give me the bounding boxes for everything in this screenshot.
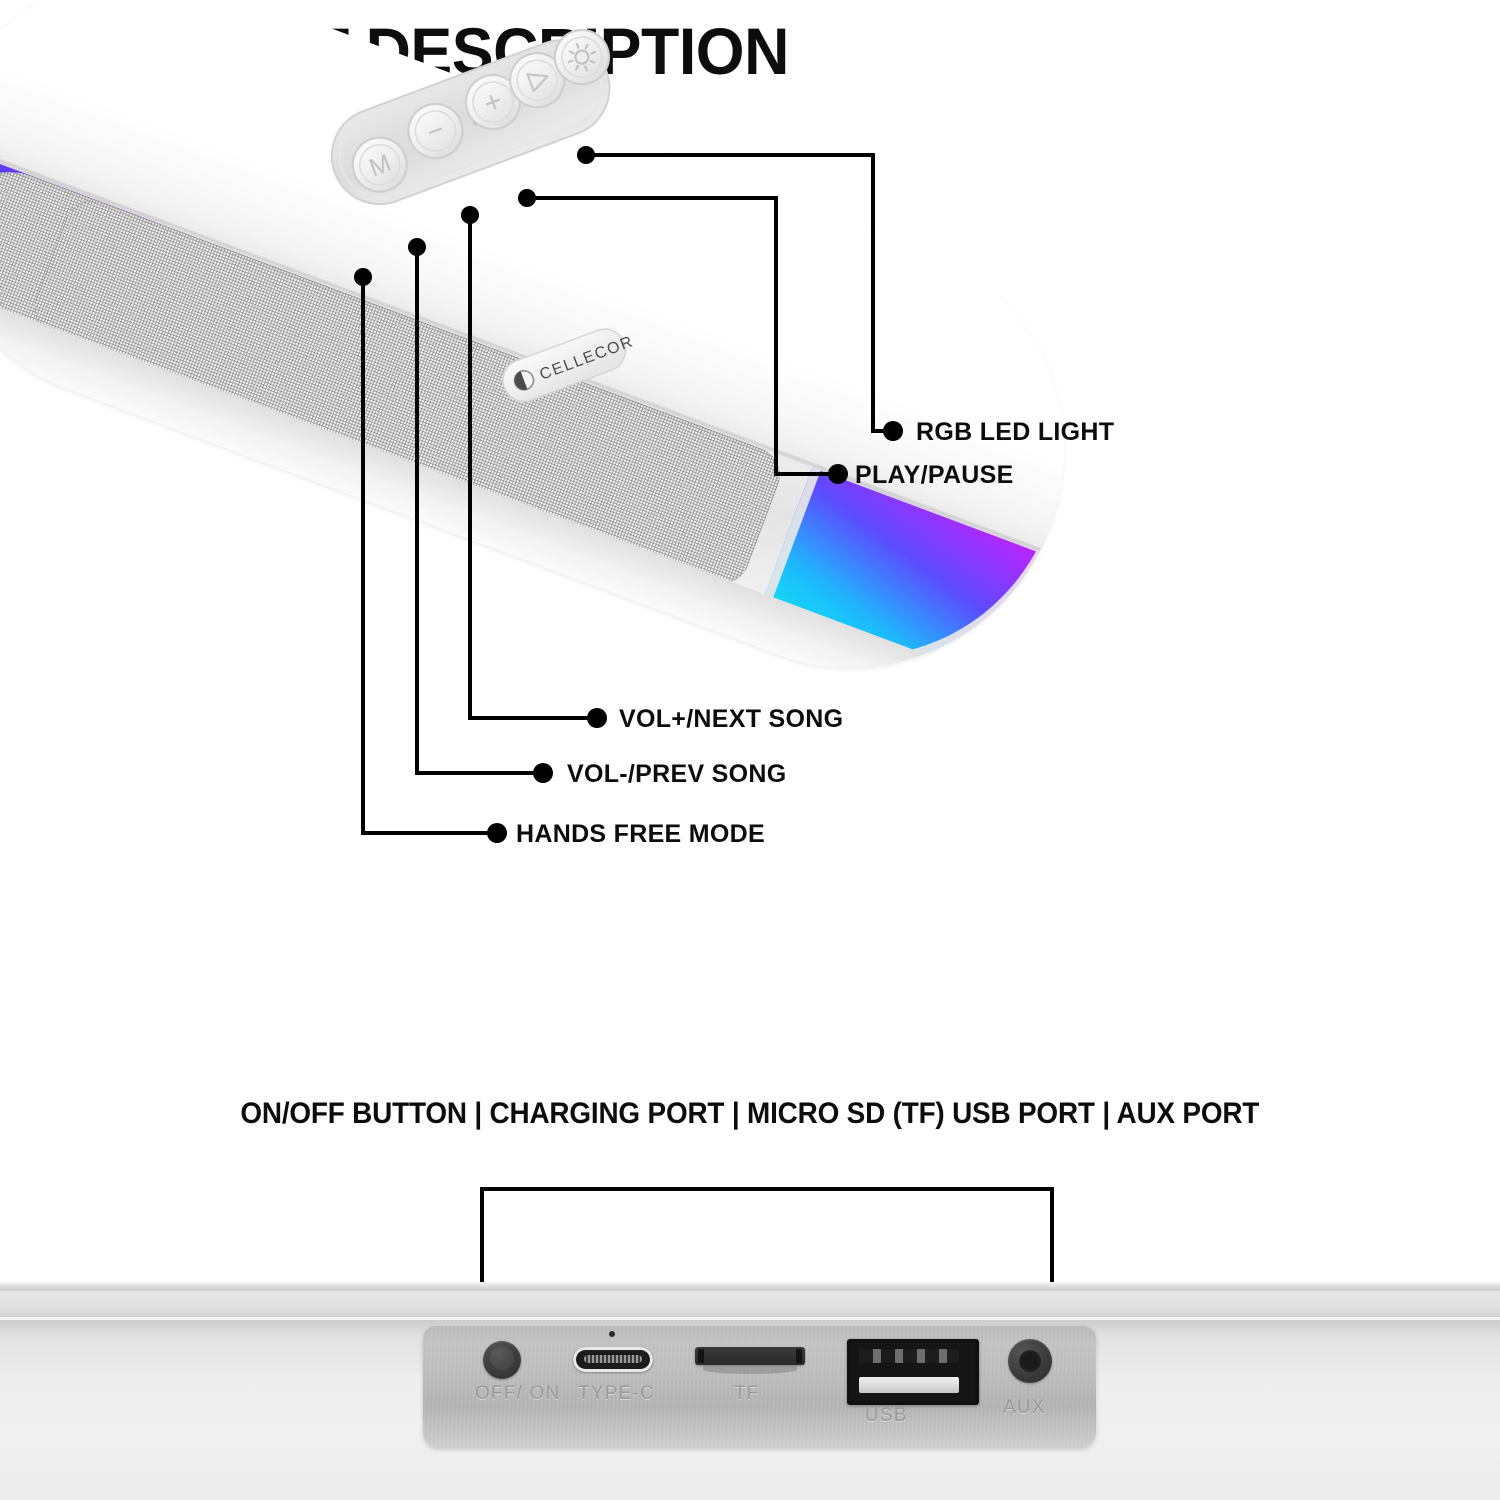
- anchor-dot-vol-down: [408, 238, 426, 256]
- usb-port[interactable]: [847, 1339, 979, 1405]
- leader-vol-down: [417, 247, 538, 773]
- indicator-pinhole: [609, 1331, 615, 1337]
- power-port-label: OFF/ ON: [475, 1383, 560, 1405]
- leader-vol-up: [470, 215, 592, 718]
- callout-label-play-pause: PLAY/PAUSE: [855, 461, 1014, 490]
- label-dot-rgb-led-light: [883, 421, 903, 441]
- anchor-dot-rgb-led-light: [577, 146, 595, 164]
- typec-port[interactable]: [573, 1347, 653, 1372]
- soundbar-rear-top-rim: [0, 1282, 1500, 1291]
- power-port[interactable]: [483, 1341, 521, 1379]
- control-button-pad: M − +: [318, 22, 632, 218]
- anchor-dot-play-pause: [518, 189, 536, 207]
- anchor-dot-hands-free: [354, 268, 372, 286]
- tf-port-label: TF: [734, 1383, 760, 1405]
- callout-label-rgb-led-light: RGB LED LIGHT: [916, 418, 1114, 447]
- anchor-dot-vol-up: [461, 206, 479, 224]
- aux-port-label: AUX: [1003, 1397, 1046, 1419]
- ports-heading: ON/OFF BUTTON | CHARGING PORT | MICRO SD…: [0, 1097, 1500, 1131]
- soundbar-rear-highlight: [0, 1317, 1500, 1320]
- label-dot-hands-free: [487, 823, 507, 843]
- product-description-page: PRODUCT DESCRIPTION: [0, 0, 1500, 1500]
- leader-hands-free: [363, 277, 492, 833]
- ports-heading-text: ON/OFF BUTTON | CHARGING PORT | MICRO SD…: [241, 1097, 1260, 1131]
- aux-port[interactable]: [1008, 1339, 1052, 1383]
- typec-port-label: TYPE-C: [578, 1383, 655, 1405]
- usb-port-label: USB: [865, 1405, 908, 1427]
- cellecor-logo-badge: CELLECOR: [497, 320, 640, 407]
- callout-label-vol-up: VOL+/NEXT SONG: [619, 705, 843, 734]
- tf-slot-shadow: [703, 1365, 797, 1374]
- callout-label-hands-free: HANDS FREE MODE: [516, 820, 765, 849]
- leader-play-pause: [527, 198, 833, 474]
- callout-label-vol-down: VOL-/PREV SONG: [567, 760, 787, 789]
- callout-overlay: M − +: [0, 0, 1500, 1500]
- tf-card-slot[interactable]: [695, 1347, 805, 1365]
- label-dot-vol-down: [533, 763, 553, 783]
- port-panel: OFF/ ON TYPE-C TF USB AUX: [423, 1325, 1096, 1448]
- label-dot-vol-up: [587, 708, 607, 728]
- label-dot-play-pause: [828, 464, 848, 484]
